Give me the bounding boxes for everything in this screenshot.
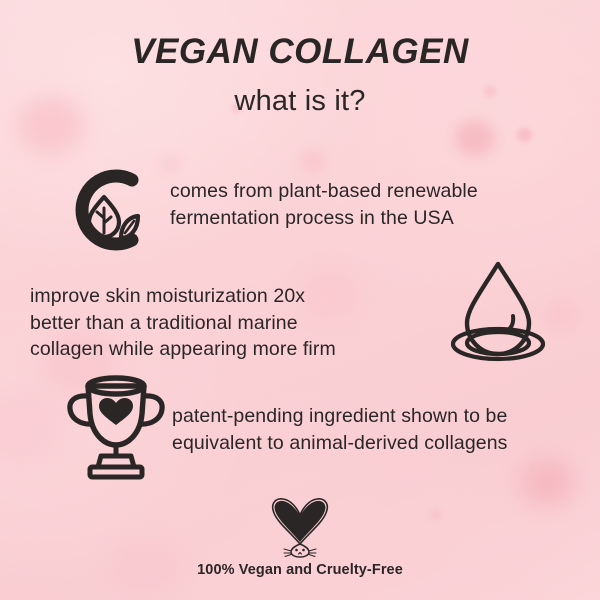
benefit-text-plant-based: comes from plant-based renewable ferment… <box>170 178 478 231</box>
bunny-heart-cruelty-free-icon <box>264 498 336 558</box>
infographic-poster: VEGAN COLLAGEN what is it? comes from pl… <box>0 0 600 600</box>
benefit-text-patent-pending: patent-pending ingredient shown to be eq… <box>172 403 508 456</box>
page-title: VEGAN COLLAGEN <box>0 34 600 69</box>
page-subtitle: what is it? <box>0 84 600 119</box>
background-blotch <box>430 510 441 520</box>
droplet-icon <box>443 258 553 362</box>
background-blotch <box>300 150 326 173</box>
benefit-text-moisturization: improve skin moisturization 20x better t… <box>30 283 336 363</box>
background-blotch <box>517 128 532 142</box>
collagen-c-icon <box>56 160 156 260</box>
background-blotch <box>455 120 495 156</box>
background-blotch <box>160 155 180 173</box>
background-blotch <box>520 458 574 506</box>
footer-caption: 100% Vegan and Cruelty-Free <box>0 562 600 578</box>
trophy-heart-icon <box>57 369 175 479</box>
